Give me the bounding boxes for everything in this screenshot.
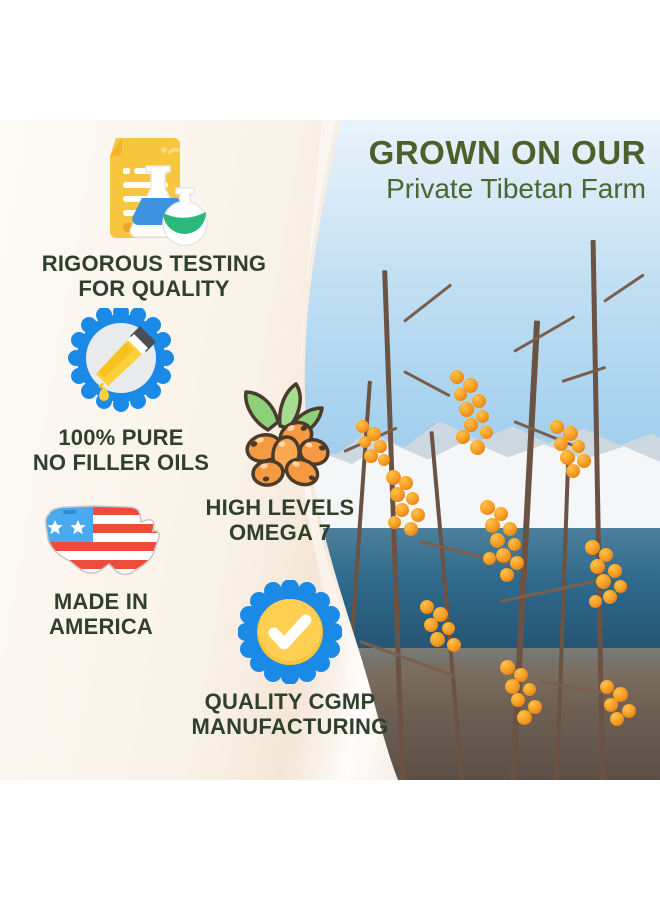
checkmark-badge-icon xyxy=(238,580,342,684)
feature-quality-cgmp: QUALITY CGMP MANUFACTURING xyxy=(150,580,430,739)
feature-label: HIGH LEVELS OMEGA 7 xyxy=(170,496,390,545)
feature-omega-7: HIGH LEVELS OMEGA 7 xyxy=(170,378,390,545)
feature-label: QUALITY CGMP MANUFACTURING xyxy=(150,690,430,739)
heading-block: GROWN ON OUR Private Tibetan Farm xyxy=(369,136,646,206)
heading-line-2: Private Tibetan Farm xyxy=(369,171,646,206)
feature-rigorous-testing: RIGOROUS TESTING FOR QUALITY xyxy=(4,128,304,301)
dropper-badge-icon xyxy=(68,308,174,420)
feature-label: RIGOROUS TESTING FOR QUALITY xyxy=(4,252,304,301)
lab-document-flask-icon xyxy=(94,128,214,246)
infographic-panel: GROWN ON OUR Private Tibetan Farm xyxy=(0,120,660,780)
sea-buckthorn-berries-icon xyxy=(224,378,336,490)
usa-flag-map-icon xyxy=(35,500,167,584)
heading-line-1: GROWN ON OUR xyxy=(369,136,646,171)
